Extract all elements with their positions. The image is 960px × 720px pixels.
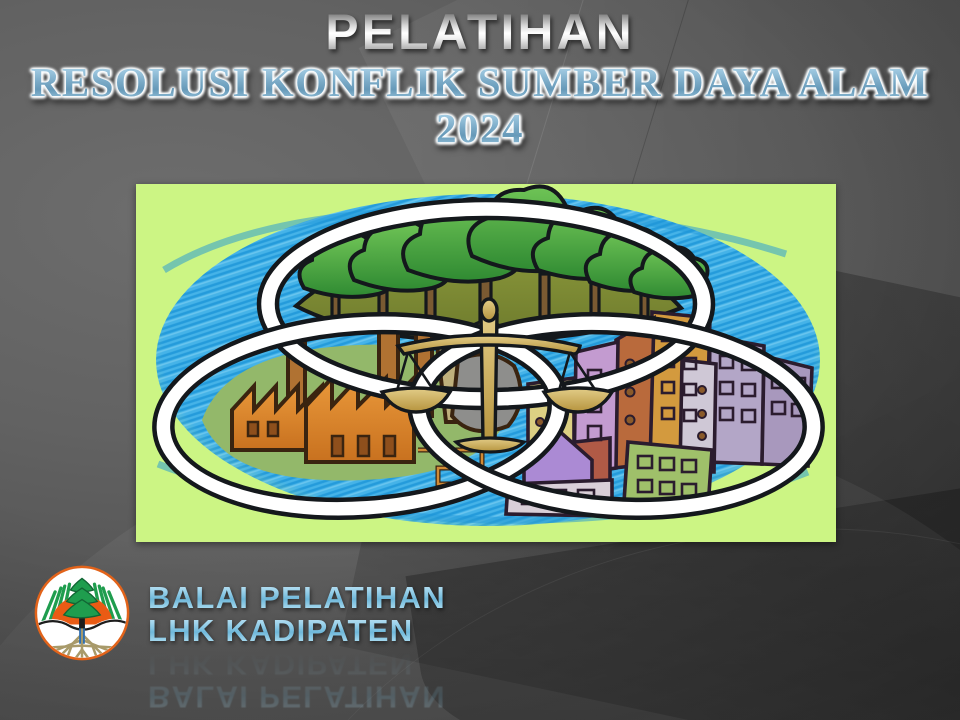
- footer-line-balai-pelatihan: BALAI PELATIHAN: [148, 581, 446, 614]
- footer-text-block: BALAI PELATIHAN LHK KADIPATEN BALAI PELA…: [148, 579, 446, 647]
- footer-branding: BALAI PELATIHAN LHK KADIPATEN BALAI PELA…: [34, 558, 594, 668]
- title-line-year: 2024: [0, 106, 960, 152]
- slide-title-block: PELATIHAN RESOLUSI KONFLIK SUMBER DAYA A…: [0, 6, 960, 152]
- venn-illustration-svg: [136, 184, 836, 542]
- title-line-subject: RESOLUSI KONFLIK SUMBER DAYA ALAM: [0, 60, 960, 106]
- sustainability-venn-illustration: [136, 184, 836, 542]
- klhk-logo-svg: [34, 565, 130, 661]
- presentation-slide: PELATIHAN RESOLUSI KONFLIK SUMBER DAYA A…: [0, 0, 960, 720]
- klhk-ministry-logo: [34, 565, 130, 661]
- title-line-pelatihan: PELATIHAN: [0, 6, 960, 58]
- footer-line-lhk-kadipaten: LHK KADIPATEN: [148, 614, 446, 647]
